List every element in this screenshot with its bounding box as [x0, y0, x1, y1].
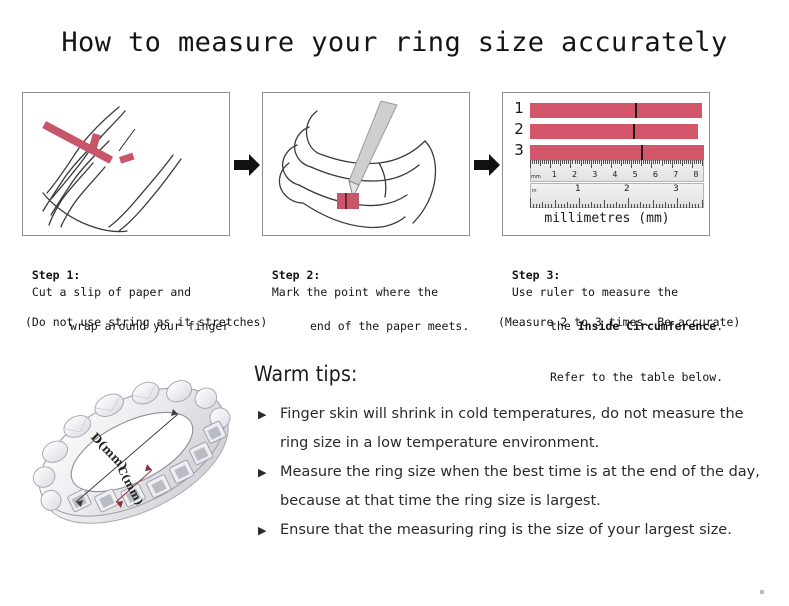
step-2-caption: Step 2: Mark the point where the end of … [258, 250, 494, 352]
ruler-cm-label-6: 6 [653, 170, 658, 179]
step-3-label: Step 3: [512, 268, 560, 282]
step-1-illustration-panel [22, 92, 230, 236]
strip-number-1: 1 [511, 100, 527, 117]
step-2-text-line1: Mark the point where the [272, 285, 438, 299]
strip-number-3: 3 [511, 142, 527, 159]
strip-bar-3 [530, 145, 704, 160]
ruler-inch-label-2: 2 [624, 185, 630, 194]
ruler-cm-label-5: 5 [633, 170, 638, 179]
step-2-illustration-panel [262, 92, 470, 236]
hand-with-paper-strip-icon [23, 93, 229, 235]
strip-mark-3 [641, 145, 643, 160]
arrow-right-icon-1 [232, 150, 262, 180]
diamond-eternity-ring-icon [18, 352, 246, 552]
warm-tip-item-3: ▶ Ensure that the measuring ring is the … [254, 516, 774, 545]
ruler-inch-unit-mark: in [532, 187, 537, 196]
ruler-cm-unit-mark: mm [531, 173, 541, 182]
ruler-inch-label-1: 1 [575, 185, 581, 194]
step-2-text-line2: end of the paper meets. [258, 318, 494, 335]
hand-marking-with-pen-icon [263, 93, 469, 235]
arrow-right-icon-2 [472, 150, 502, 180]
ruler-graphic: 12345678mm123in [530, 160, 704, 208]
measured-strip-row-3: 3 [511, 145, 703, 160]
ruler-cm-label-2: 2 [572, 170, 577, 179]
step-2-label: Step 2: [272, 268, 320, 282]
step-1-note: (Do not use string as it stretches) [25, 315, 267, 329]
ruler-inch-label-3: 3 [673, 185, 679, 194]
step-1-label: Step 1: [32, 268, 80, 282]
measured-strip-row-1: 1 [511, 103, 703, 118]
ruler-cm-label-1: 1 [552, 170, 557, 179]
strip-number-2: 2 [511, 121, 527, 138]
bullet-triangle-icon-3: ▶ [258, 516, 266, 545]
step-1-text-line1: Cut a slip of paper and [32, 285, 191, 299]
step-1-caption: Step 1: Cut a slip of paper and wrap aro… [18, 250, 254, 352]
bullet-triangle-icon-2: ▶ [258, 458, 266, 487]
measured-strip-row-2: 2 [511, 124, 703, 139]
ring-illustration: D(mm) C(mm) [18, 352, 246, 552]
warm-tip-text-2: Measure the ring size when the best time… [280, 464, 760, 509]
warm-tip-item-1: ▶ Finger skin will shrink in cold temper… [254, 400, 774, 458]
strip-bar-1 [530, 103, 702, 118]
warm-tip-item-2: ▶ Measure the ring size when the best ti… [254, 458, 774, 516]
strip-mark-2 [633, 124, 635, 139]
warm-tip-text-3: Ensure that the measuring ring is the si… [280, 522, 732, 538]
ruler-cm-label-3: 3 [592, 170, 597, 179]
ruler-unit-caption: millimetres (mm) [503, 211, 710, 226]
ruler-cm-label-7: 7 [673, 170, 678, 179]
warm-tips-heading: Warm tips: [254, 362, 774, 386]
strip-bar-2 [530, 124, 698, 139]
ruler-cm-label-8: 8 [693, 170, 698, 179]
warm-tips-section: Warm tips: ▶ Finger skin will shrink in … [254, 362, 774, 545]
steps-row: 1 2 3 12345678mm123in millimetres (mm) [0, 92, 789, 242]
strip-mark-1 [635, 103, 637, 118]
bullet-triangle-icon-1: ▶ [258, 400, 266, 429]
step-3-note: (Measure 2 to 3 times. Be accurate) [498, 315, 740, 329]
page-title: How to measure your ring size accurately [0, 27, 789, 58]
step-3-measure-panel: 1 2 3 12345678mm123in millimetres (mm) [502, 92, 710, 236]
step-3-text-line1: Use ruler to measure the [512, 285, 678, 299]
corner-artifact [760, 590, 764, 594]
warm-tip-text-1: Finger skin will shrink in cold temperat… [280, 406, 744, 451]
ruler-cm-label-4: 4 [612, 170, 617, 179]
